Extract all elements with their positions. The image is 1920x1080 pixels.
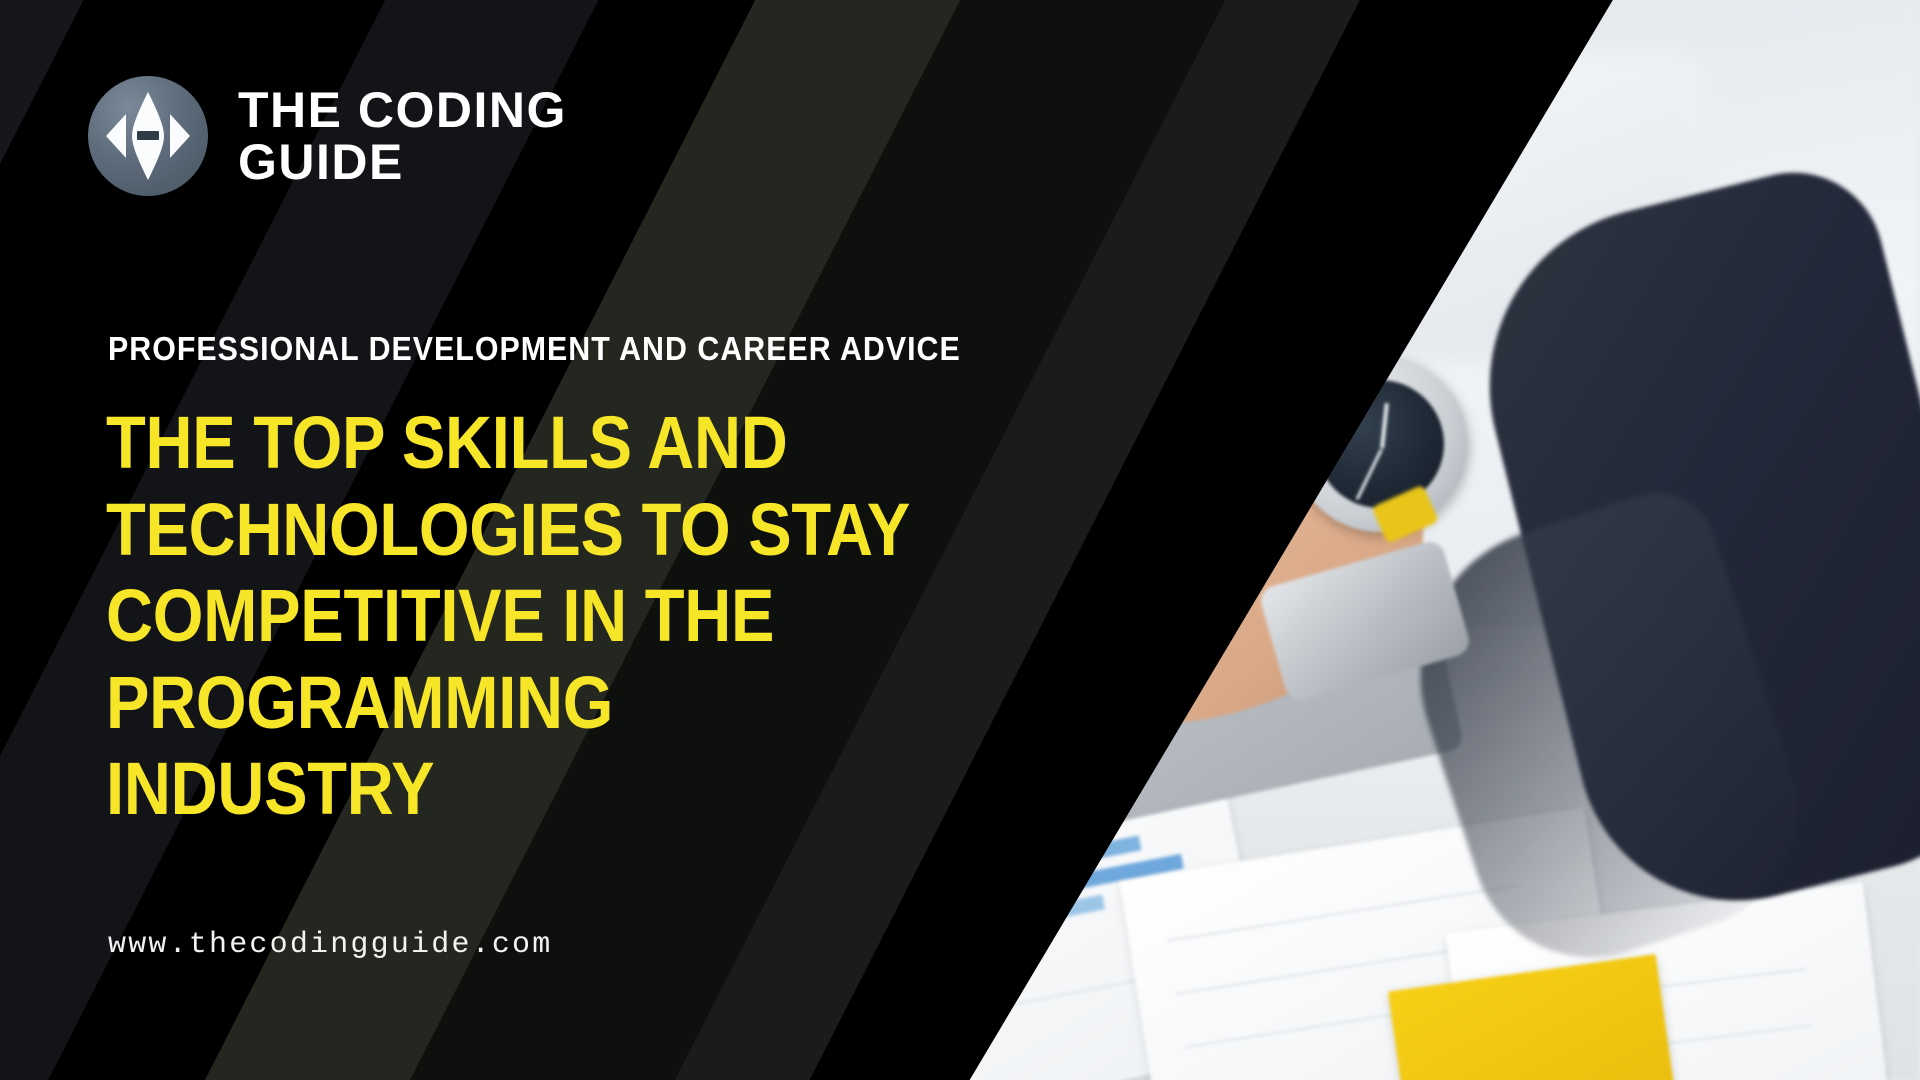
headline-line: INDUSTRY bbox=[106, 746, 1039, 833]
headline-line: THE TOP SKILLS AND bbox=[106, 400, 1039, 487]
website-url[interactable]: www.thecodingguide.com bbox=[108, 928, 552, 962]
headline-line: TECHNOLOGIES TO STAY bbox=[106, 487, 1039, 574]
category-kicker: PROFESSIONAL DEVELOPMENT AND CAREER ADVI… bbox=[108, 330, 961, 368]
brand-name-line-2: GUIDE bbox=[238, 136, 567, 188]
brand-name: THE CODING GUIDE bbox=[238, 84, 567, 188]
headline-line: COMPETITIVE IN THE bbox=[106, 573, 1039, 660]
article-banner: THE CODING GUIDE PROFESSIONAL DEVELOPMEN… bbox=[0, 0, 1920, 1080]
headline-line: PROGRAMMING bbox=[106, 660, 1039, 747]
coding-guide-compass-logo-icon bbox=[88, 76, 208, 196]
page-title: THE TOP SKILLS AND TECHNOLOGIES TO STAY … bbox=[106, 400, 1039, 833]
brand-lockup[interactable]: THE CODING GUIDE bbox=[88, 76, 567, 196]
brand-name-line-1: THE CODING bbox=[238, 84, 567, 136]
